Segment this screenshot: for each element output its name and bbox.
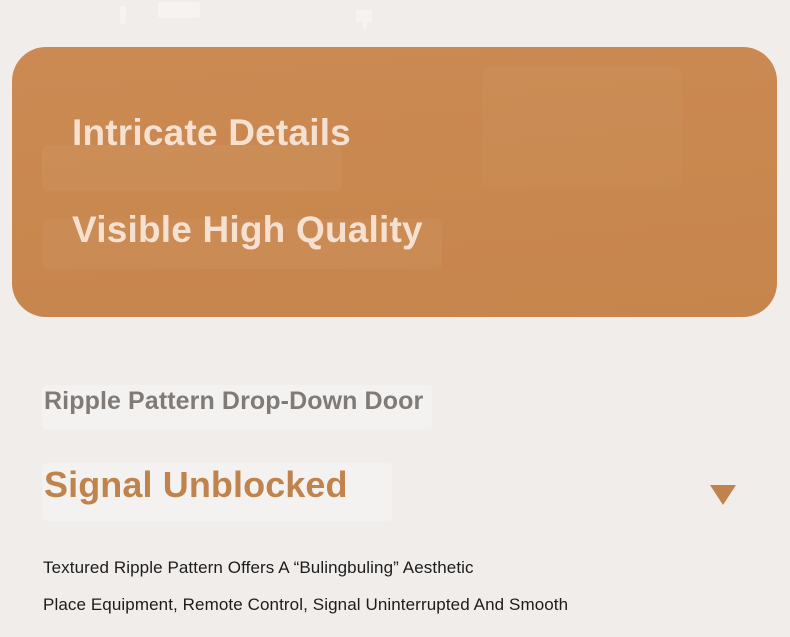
feature-bullet: Place Equipment, Remote Control, Signal …	[43, 596, 568, 613]
feature-main-heading: Signal Unblocked	[44, 467, 348, 503]
card-texture-patch	[482, 67, 682, 187]
product-feature-page: Intricate Details Visible High Quality R…	[0, 0, 790, 637]
hero-headline-secondary: Visible High Quality	[72, 211, 423, 248]
chevron-down-icon[interactable]	[710, 485, 736, 505]
ghost-artifact	[363, 18, 367, 29]
hero-headline-primary: Intricate Details	[72, 114, 351, 151]
clipped-top-content	[0, 0, 790, 30]
hero-banner-card: Intricate Details Visible High Quality	[12, 47, 777, 317]
ghost-artifact	[120, 6, 126, 24]
feature-sub-heading: Ripple Pattern Drop-Down Door	[44, 389, 423, 414]
feature-bullet: Textured Ripple Pattern Offers A “Buling…	[43, 559, 474, 576]
ghost-artifact	[158, 2, 200, 18]
